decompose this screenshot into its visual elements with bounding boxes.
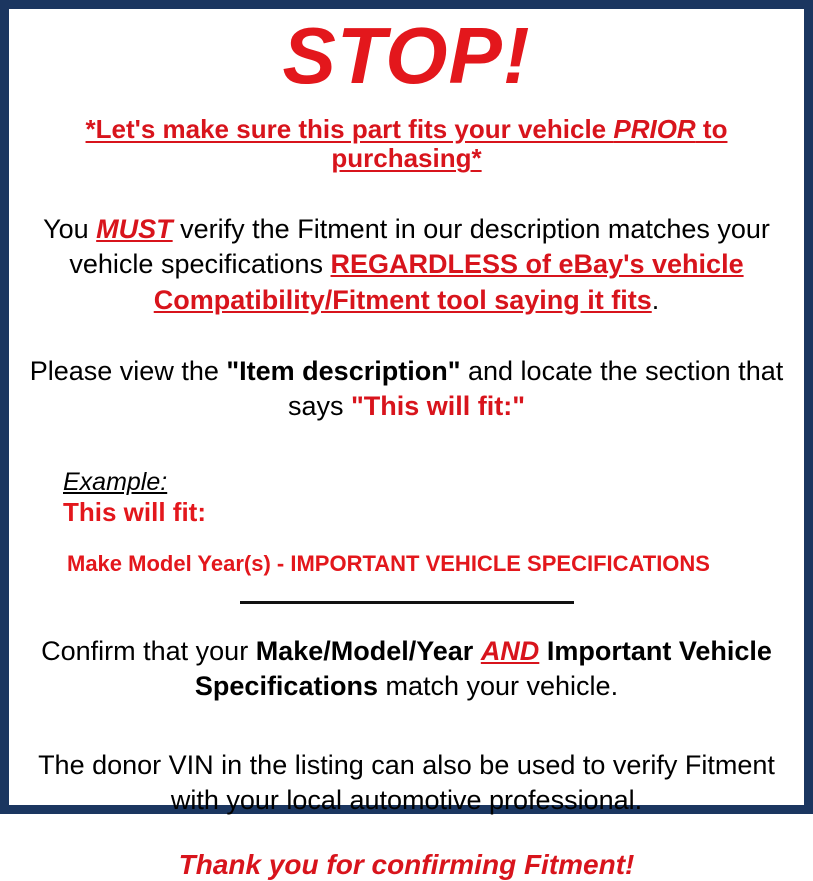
bold-item-description: "Item description": [226, 356, 460, 386]
subtitle-banner: *Let's make sure this part fits your veh…: [17, 97, 796, 175]
bold-make-model-year: Make/Model/Year: [256, 636, 474, 666]
emphasis-and: AND: [481, 636, 540, 666]
page-title: STOP!: [17, 9, 796, 97]
must-seg-1: You: [43, 214, 96, 244]
subtitle-emphasis-prior: PRIOR: [613, 114, 695, 144]
item-description-paragraph: Please view the "Item description" and l…: [17, 318, 796, 424]
example-block: Example: This will fit: Make Model Year(…: [17, 424, 796, 577]
red-quote-this-will-fit: "This will fit:": [351, 391, 525, 421]
divider-line: [240, 601, 574, 604]
confirm-seg-4: match your vehicle.: [378, 671, 618, 701]
subtitle-lead-text: *Let's make sure this part fits your veh…: [86, 114, 614, 144]
example-spec-line: Make Model Year(s) - IMPORTANT VEHICLE S…: [63, 527, 796, 577]
must-verify-paragraph: You MUST verify the Fitment in our descr…: [17, 174, 796, 317]
example-this-will-fit: This will fit:: [63, 497, 796, 527]
thank-you-line: Thank you for confirming Fitment!: [17, 818, 796, 881]
example-label-row: Example:: [63, 468, 796, 497]
fitment-notice-card: STOP! *Let's make sure this part fits yo…: [0, 0, 813, 814]
confirm-paragraph: Confirm that your Make/Model/Year AND Im…: [17, 604, 796, 704]
divider: [17, 577, 796, 604]
must-seg-3: .: [652, 285, 660, 315]
confirm-seg-2: [473, 636, 481, 666]
confirm-seg-1: Confirm that your: [41, 636, 256, 666]
notice-content: STOP! *Let's make sure this part fits yo…: [9, 9, 804, 805]
emphasis-must: MUST: [96, 214, 173, 244]
view-seg-1: Please view the: [30, 356, 227, 386]
example-label: Example:: [63, 468, 167, 497]
donor-vin-paragraph: The donor VIN in the listing can also be…: [17, 704, 796, 818]
confirm-seg-3: [539, 636, 547, 666]
